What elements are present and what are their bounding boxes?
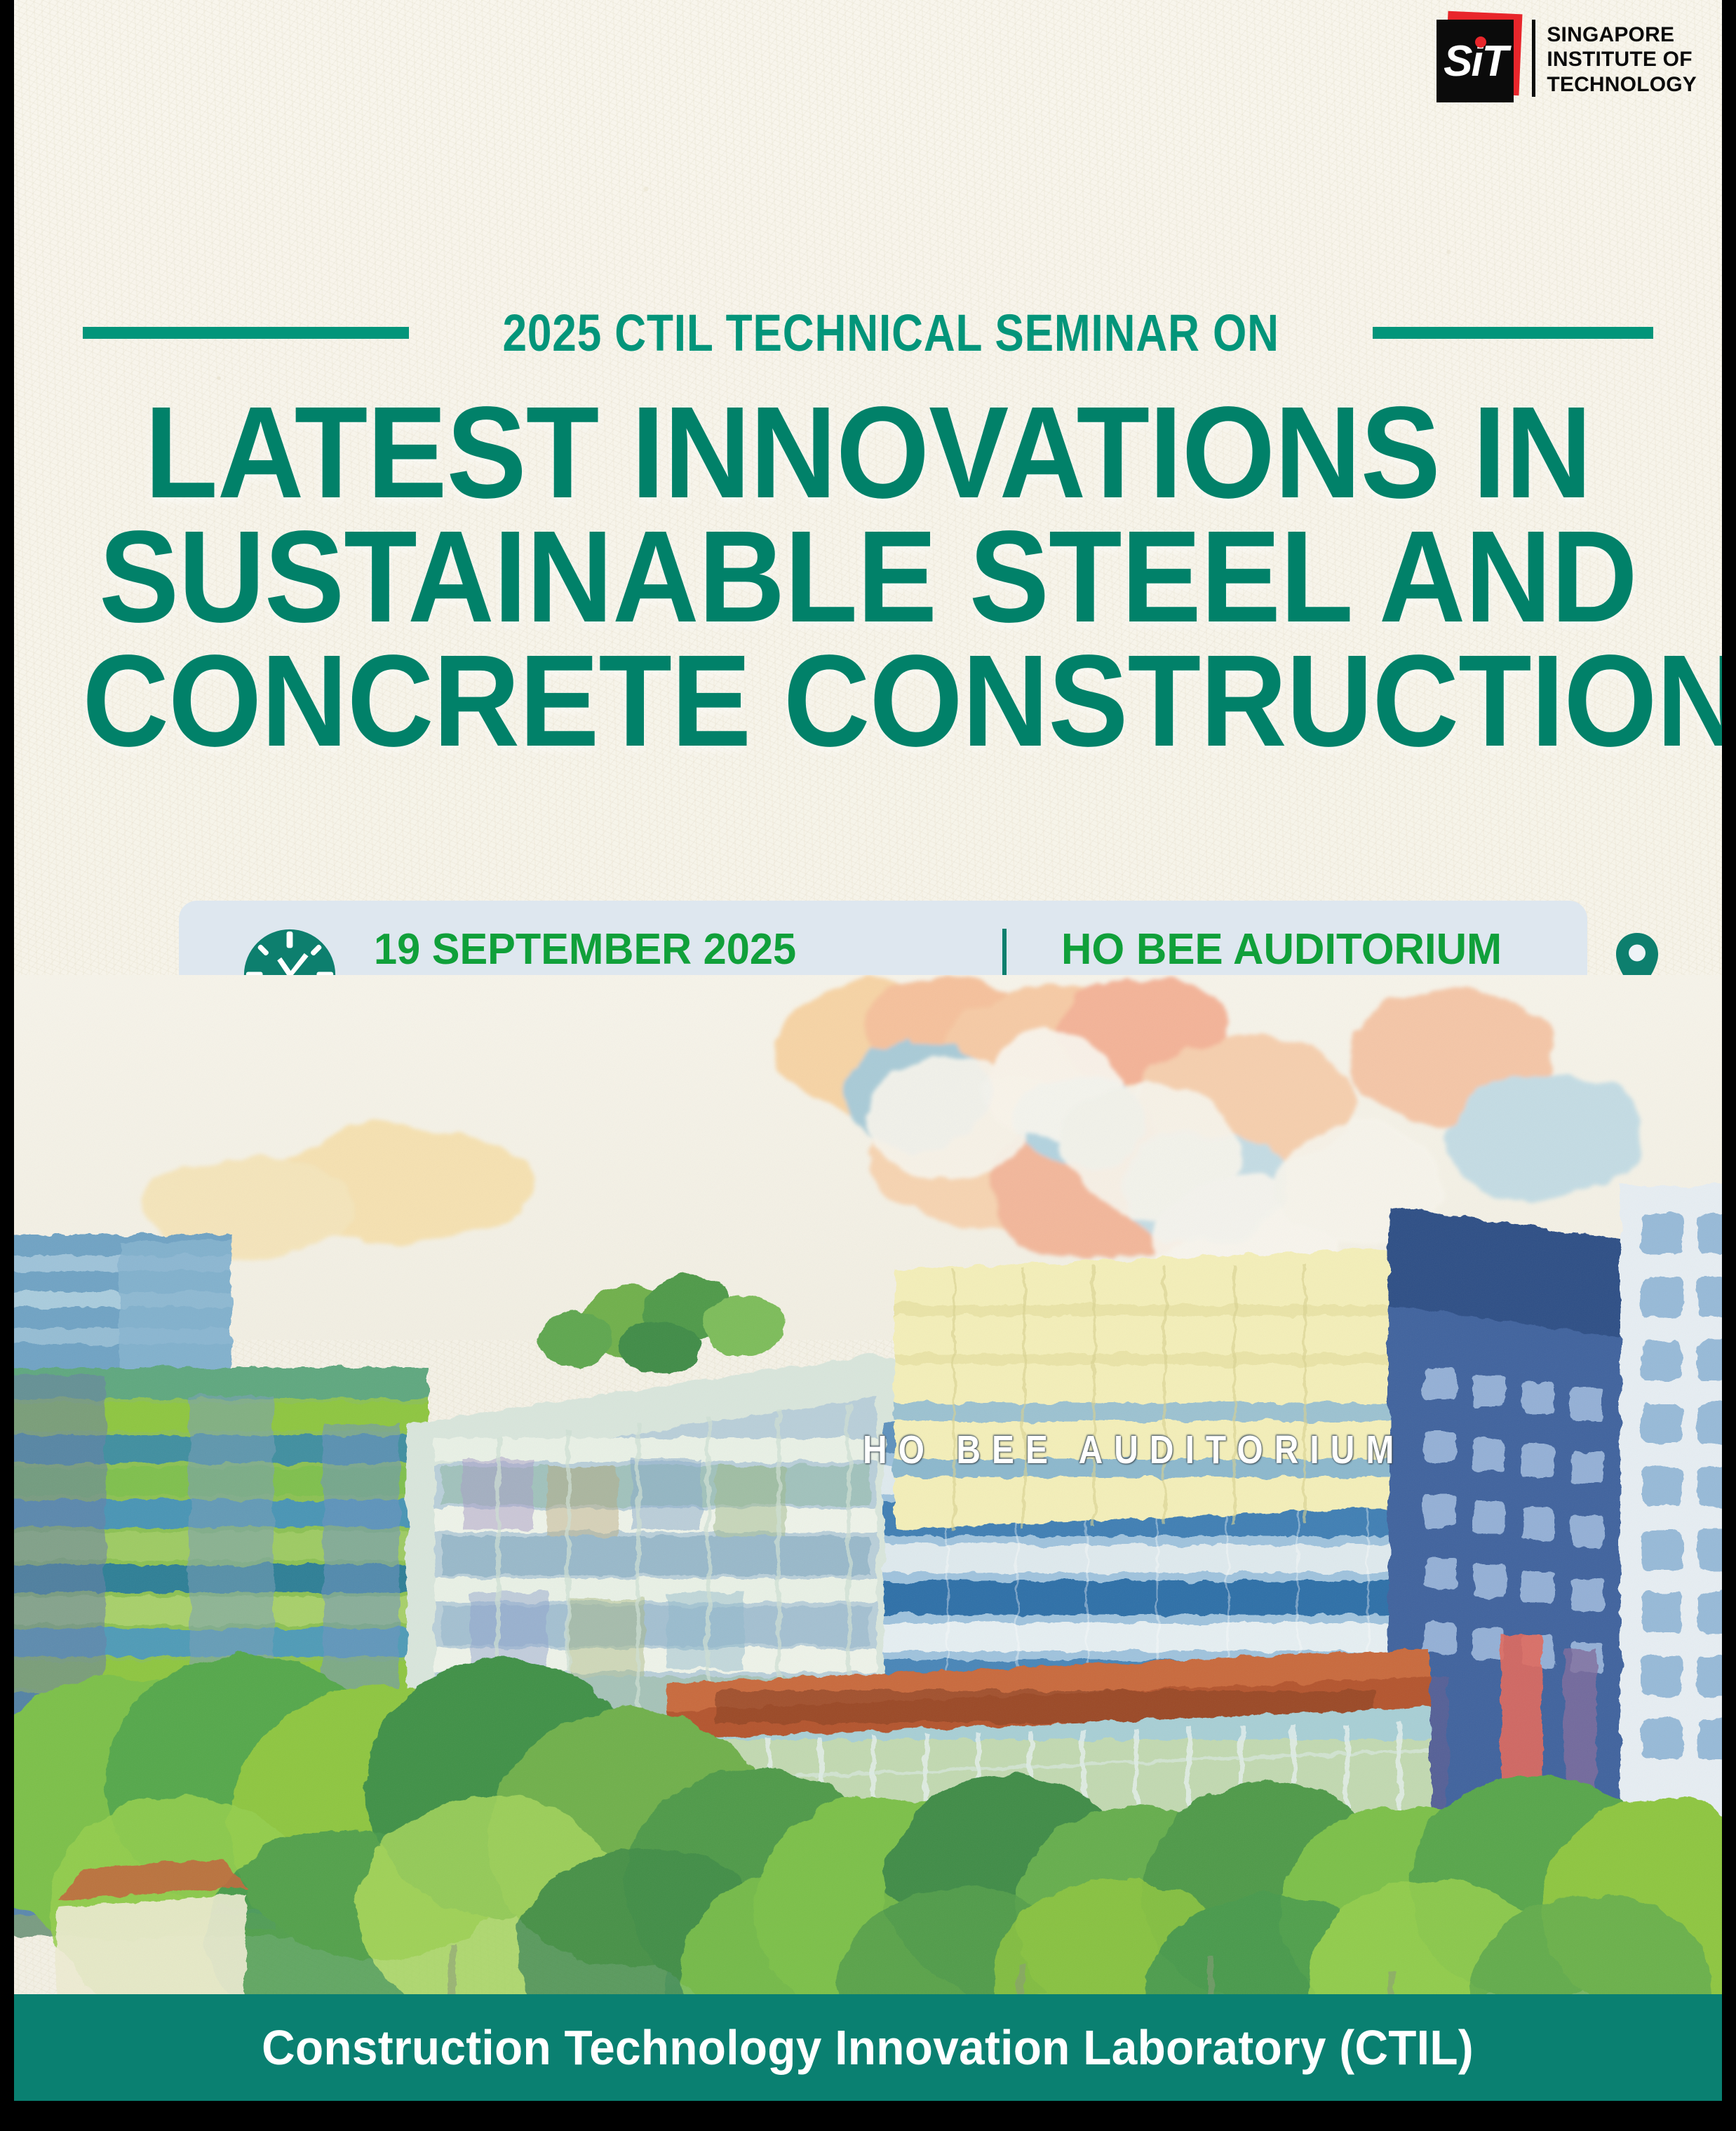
eyebrow-rule-left <box>83 327 409 339</box>
title-line-3: CONCRETE CONSTRUCTION <box>82 641 1653 761</box>
eyebrow-rule-right <box>1373 327 1653 339</box>
event-date: 19 SEPTEMBER 2025 <box>374 925 796 975</box>
poster-title: LATEST INNOVATIONS IN SUSTAINABLE STEEL … <box>14 393 1722 761</box>
title-line-2: SUSTAINABLE STEEL AND <box>82 517 1653 637</box>
eyebrow-text: 2025 CTIL TECHNICAL SEMINAR ON <box>502 303 1279 363</box>
sit-logo-wordmark: SINGAPORE INSTITUTE OF TECHNOLOGY <box>1532 20 1697 97</box>
title-line-1: LATEST INNOVATIONS IN <box>82 393 1653 513</box>
logo-sit-text: SiT <box>1436 20 1514 102</box>
logo-name-line-1: SINGAPORE <box>1547 22 1697 47</box>
logo-name-line-2: INSTITUTE OF <box>1547 47 1697 72</box>
footer-text: Construction Technology Innovation Labor… <box>262 2019 1474 2076</box>
auditorium-facade-sign: HO BEE AUDITORIUM <box>863 1427 1405 1473</box>
footer-bar: Construction Technology Innovation Labor… <box>14 1994 1722 2101</box>
venue-line-1: HO BEE AUDITORIUM <box>1061 925 1546 975</box>
sit-logo: SiT SINGAPORE INSTITUTE OF TECHNOLOGY <box>1436 20 1697 102</box>
sit-logo-mark: SiT <box>1436 20 1519 102</box>
campus-watercolor-illustration: HO BEE AUDITORIUM <box>14 975 1722 2071</box>
poster-canvas: SiT SINGAPORE INSTITUTE OF TECHNOLOGY 20… <box>14 0 1722 2101</box>
eyebrow-row: 2025 CTIL TECHNICAL SEMINAR ON <box>14 303 1722 363</box>
logo-name-line-3: TECHNOLOGY <box>1547 72 1697 97</box>
